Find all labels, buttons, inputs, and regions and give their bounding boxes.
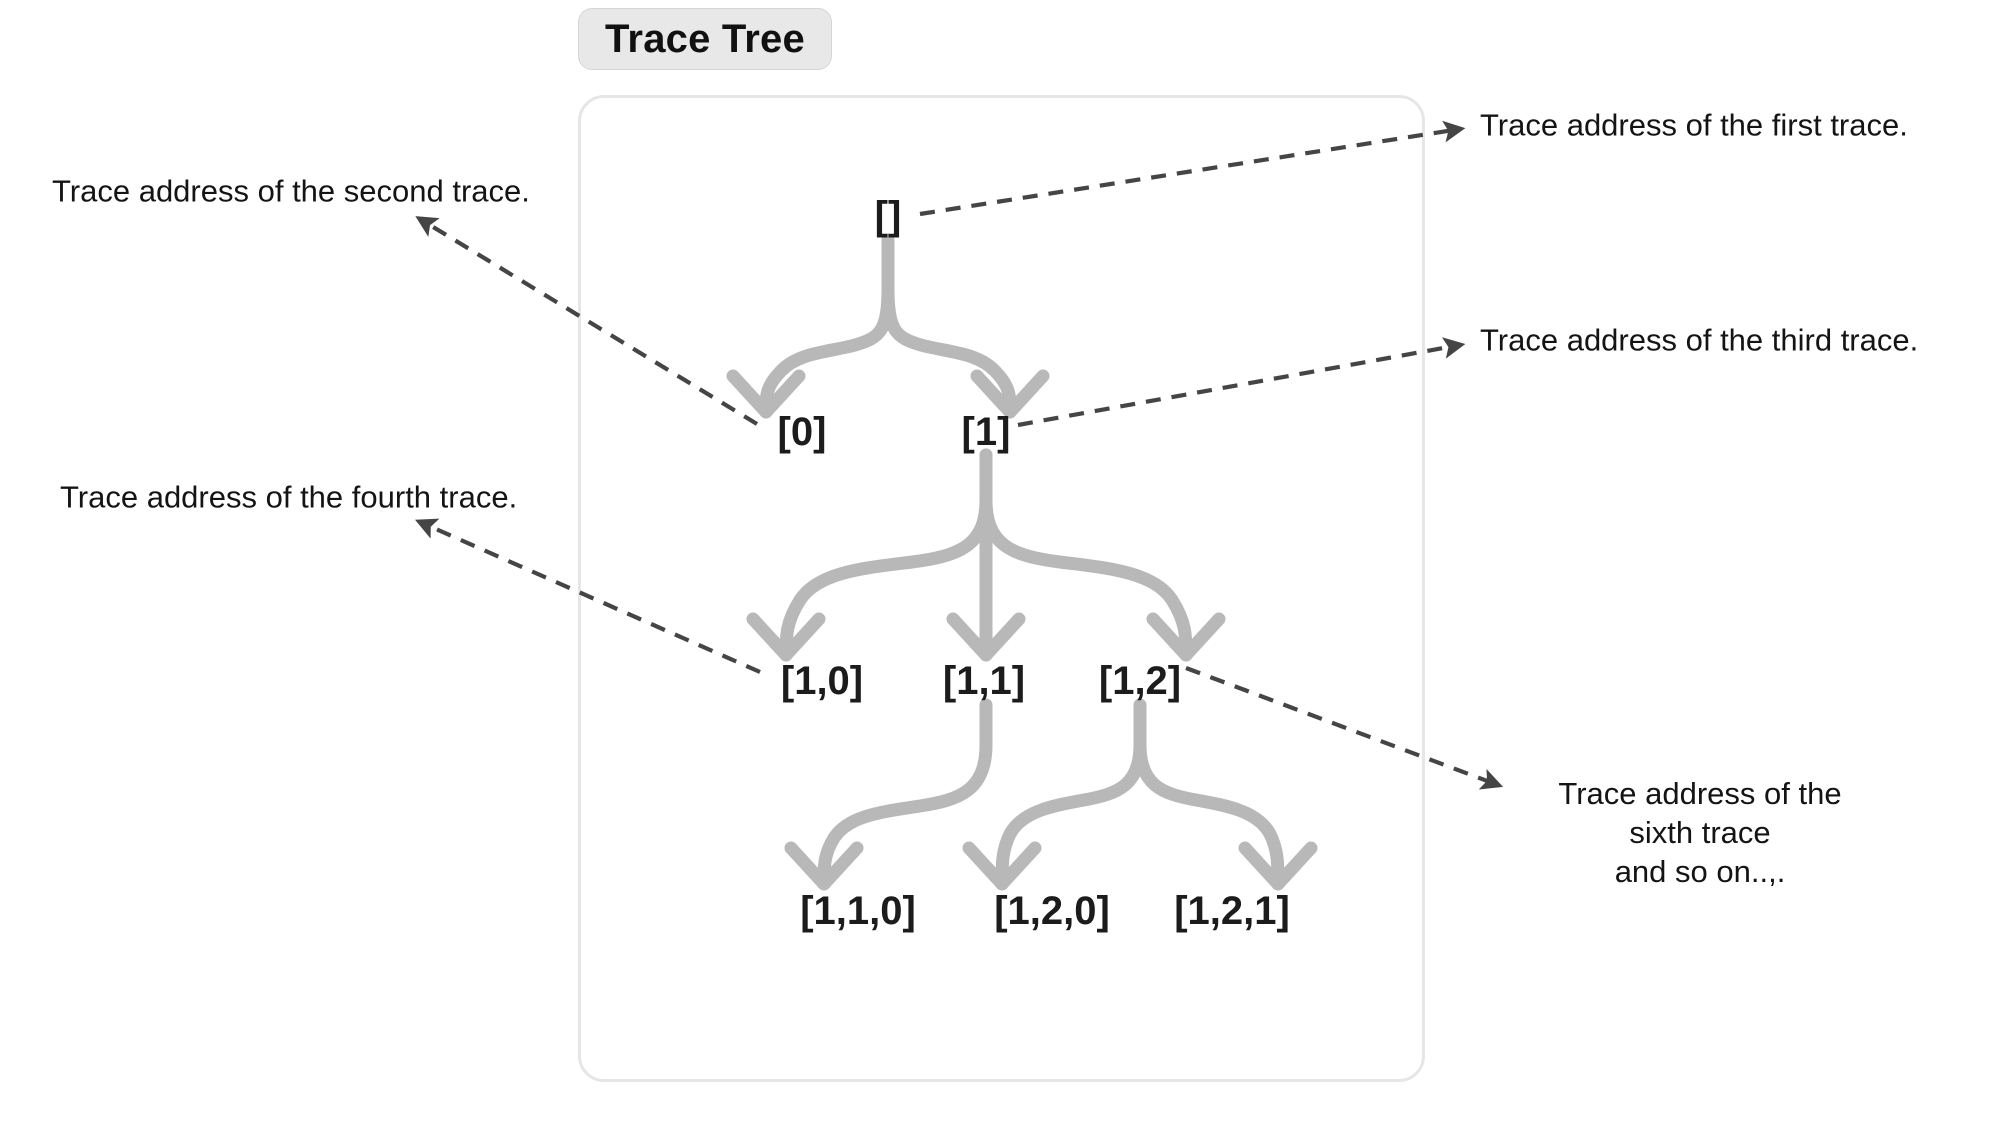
annotation-arrows-layer	[0, 0, 2000, 1125]
annotation-line-sixth-trace	[1186, 668, 1498, 785]
annotation-third-trace: Trace address of the third trace.	[1480, 322, 1918, 361]
annotation-line-second-trace	[420, 219, 757, 424]
annotation-second-trace: Trace address of the second trace.	[52, 173, 530, 212]
annotation-fourth-trace: Trace address of the fourth trace.	[60, 479, 517, 518]
annotation-line-fourth-trace	[420, 522, 760, 672]
annotation-line-third-trace	[1018, 345, 1460, 425]
annotation-sixth-trace: Trace address of the sixth trace and so …	[1550, 775, 1850, 891]
annotation-line-first-trace	[920, 129, 1460, 214]
annotation-first-trace: Trace address of the first trace.	[1480, 107, 1908, 146]
